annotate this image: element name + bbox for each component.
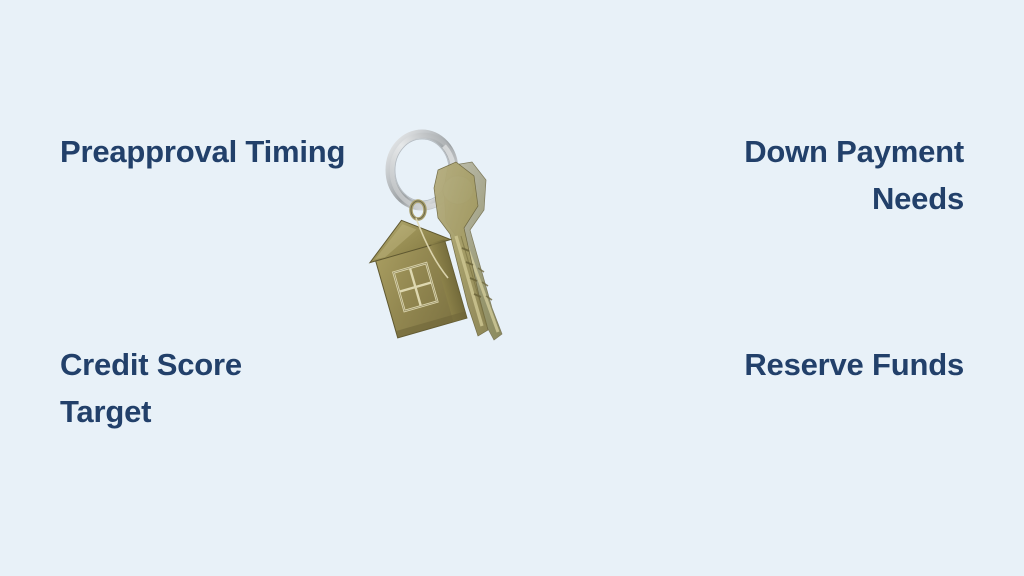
house-keychain-image [352, 118, 552, 358]
heading-down-payment-needs: Down Payment Needs [664, 128, 964, 222]
heading-reserve-funds: Reserve Funds [664, 341, 964, 388]
heading-credit-score-target: Credit Score Target [60, 341, 360, 435]
heading-preapproval-timing: Preapproval Timing [60, 128, 360, 175]
slide-canvas: Preapproval Timing Down Payment Needs Cr… [0, 0, 1024, 576]
